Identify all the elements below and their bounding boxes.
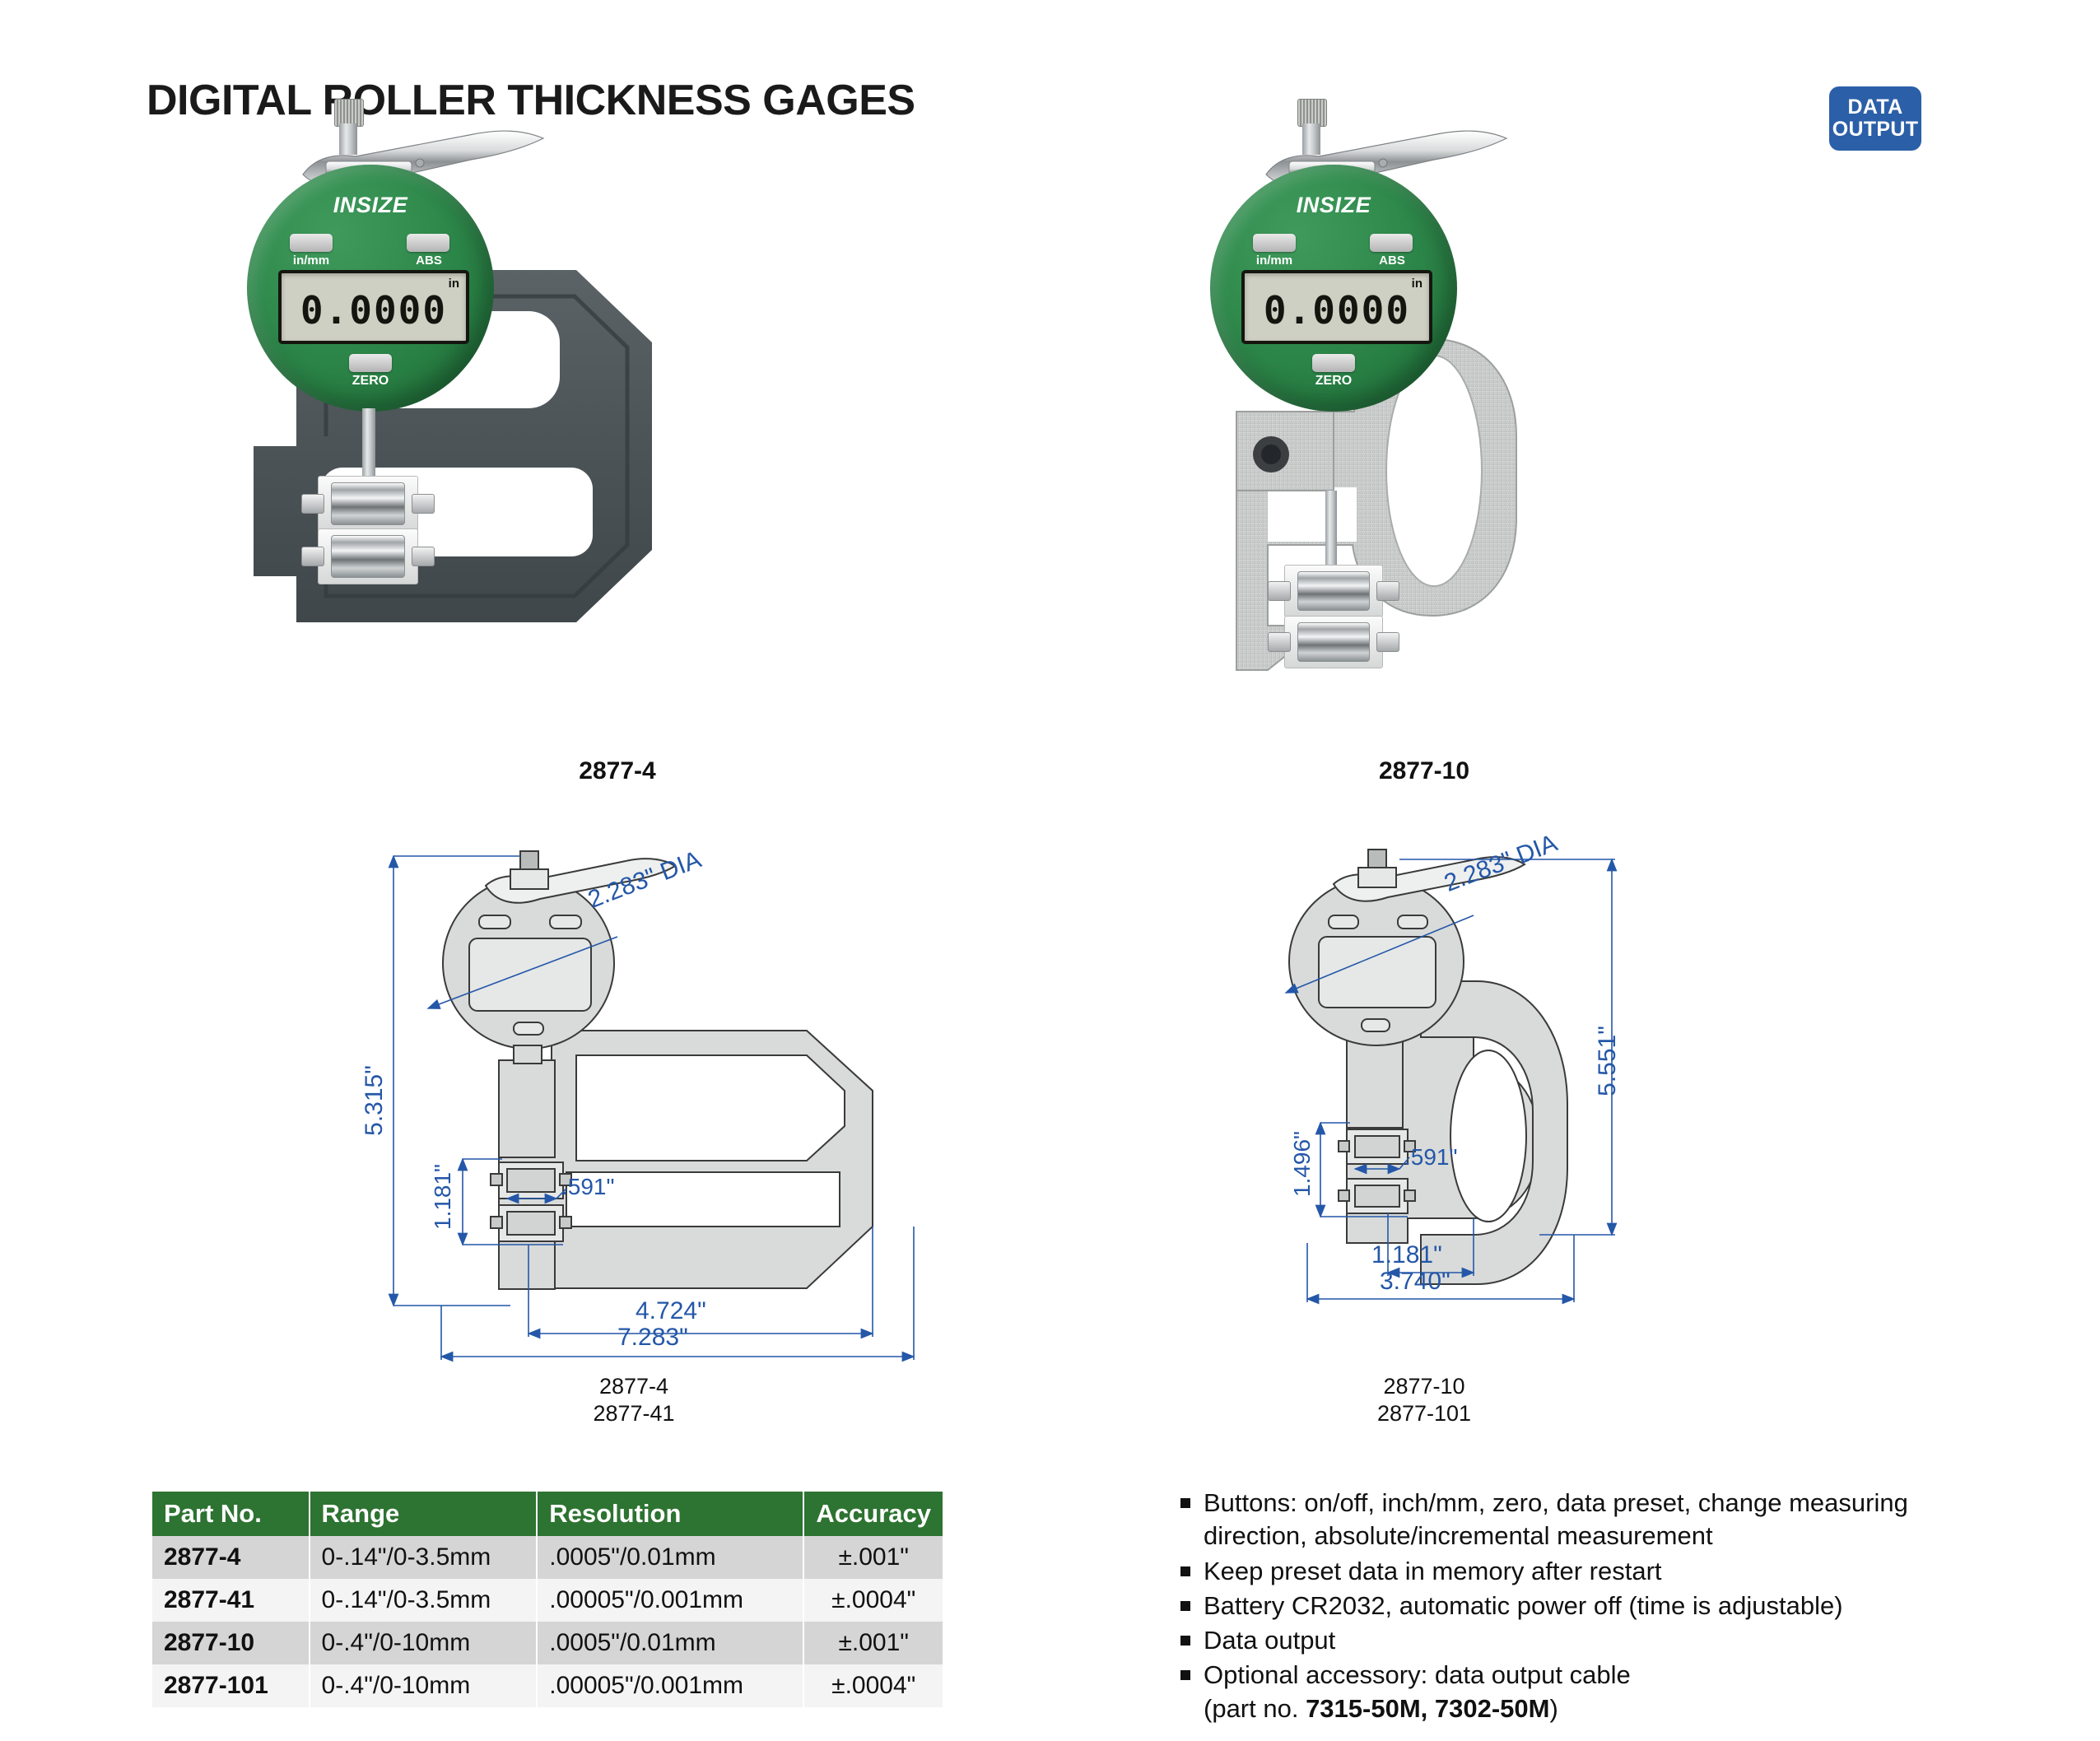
cell-accuracy: ±.001" — [803, 1622, 943, 1664]
roller-lower — [331, 535, 405, 578]
bolt-lower-right — [1376, 632, 1399, 652]
bolt-upper-left — [301, 494, 324, 514]
dim-overall-right: 3.740" — [1380, 1268, 1450, 1296]
zero-button-label: ZERO — [1304, 374, 1363, 389]
roller-upper — [331, 482, 405, 525]
dim-roller-gap-left: 1.181" — [430, 1164, 456, 1230]
feature-partno-prefix: (part no. — [1204, 1694, 1306, 1723]
dim-roller-width-right: .591" — [1404, 1144, 1457, 1171]
abs-button-label: ABS — [1363, 254, 1421, 268]
lcd-unit: in — [1412, 277, 1423, 291]
feature-text: Buttons: on/off, inch/mm, zero, data pre… — [1204, 1488, 1908, 1550]
spindle-cap — [1297, 99, 1327, 127]
abs-button-label: ABS — [400, 254, 458, 268]
product-photo-2877-10: INSIZE in/mm ABS 0.0000 in ZERO — [1218, 165, 1795, 733]
drawing-caption-left: 2877-4 2877-41 — [510, 1373, 757, 1427]
dim-throat-right: 1.181" — [1371, 1241, 1442, 1269]
data-output-badge: DATA OUTPUT — [1829, 86, 1921, 151]
dim-throat-left: 4.724" — [636, 1297, 706, 1325]
dim-roller-gap-right: 1.496" — [1289, 1131, 1315, 1197]
cell-part-no: 2877-41 — [152, 1579, 310, 1622]
header-part-no: Part No. — [152, 1492, 310, 1536]
feature-partno-value: 7315-50M, 7302-50M — [1306, 1694, 1549, 1723]
cell-resolution: .0005"/0.01mm — [537, 1622, 803, 1664]
feature-item: Buttons: on/off, inch/mm, zero, data pre… — [1179, 1487, 2019, 1553]
drawing-caption-left-line2: 2877-41 — [510, 1400, 757, 1427]
cell-accuracy: ±.001" — [803, 1536, 943, 1579]
spindle-top — [339, 123, 357, 155]
roller-assembly-2877-10 — [1261, 565, 1418, 680]
bolt-lower-left — [1268, 632, 1291, 652]
abs-button[interactable] — [1370, 234, 1413, 252]
bolt-upper-right — [412, 494, 435, 514]
technical-drawing-2877-10: 2.283" DIA 5.551" 1.496" .591" 1.181" 3.… — [1268, 840, 1646, 1366]
bolt-lower-right — [412, 547, 435, 566]
dim-overall-left: 7.283" — [617, 1324, 688, 1352]
roller-lower — [1297, 622, 1370, 662]
table-header-row: Part No. Range Resolution Accuracy — [152, 1492, 943, 1536]
cell-range: 0-.4"/0-10mm — [310, 1622, 538, 1664]
cell-range: 0-.14"/0-3.5mm — [310, 1536, 538, 1579]
badge-line-2: OUTPUT — [1832, 119, 1919, 141]
feature-partno-suffix: ) — [1549, 1694, 1558, 1723]
drawing-caption-left-line1: 2877-4 — [510, 1373, 757, 1400]
specification-table: Part No. Range Resolution Accuracy 2877-… — [152, 1492, 943, 1707]
feature-item: Data output — [1179, 1624, 2019, 1657]
feature-text: Optional accessory: data output cable — [1204, 1660, 1631, 1689]
lcd-value: 0.0000 — [282, 288, 466, 333]
feature-text: Battery CR2032, automatic power off (tim… — [1204, 1591, 1843, 1620]
inmm-button-label: in/mm — [1245, 254, 1304, 268]
lcd-value: 0.0000 — [1245, 288, 1429, 333]
lcd-display: 0.0000 in — [278, 270, 469, 344]
brand-label: INSIZE — [1210, 193, 1457, 218]
zero-button[interactable] — [349, 354, 392, 372]
table-row: 2877-10 0-.4"/0-10mm .0005"/0.01mm ±.001… — [152, 1622, 943, 1664]
feature-item: Battery CR2032, automatic power off (tim… — [1179, 1590, 2019, 1622]
cell-range: 0-.14"/0-3.5mm — [310, 1579, 538, 1622]
dial-face: INSIZE in/mm ABS 0.0000 in ZERO — [247, 165, 494, 412]
feature-item: Optional accessory: data output cable (p… — [1179, 1659, 2019, 1725]
badge-line-1: DATA — [1848, 96, 1903, 119]
inmm-button-label: in/mm — [282, 254, 341, 268]
dim-roller-width-left: .591" — [561, 1174, 614, 1200]
inmm-button[interactable] — [1253, 234, 1296, 252]
bolt-upper-right — [1376, 581, 1399, 601]
cell-resolution: .00005"/0.001mm — [537, 1579, 803, 1622]
table-row: 2877-4 0-.14"/0-3.5mm .0005"/0.01mm ±.00… — [152, 1536, 943, 1579]
feature-list: Buttons: on/off, inch/mm, zero, data pre… — [1179, 1487, 2019, 1727]
bolt-lower-left — [301, 547, 324, 566]
header-accuracy: Accuracy — [803, 1492, 943, 1536]
feature-item: Keep preset data in memory after restart — [1179, 1555, 2019, 1588]
cell-part-no: 2877-4 — [152, 1536, 310, 1579]
indicator-head-2877-4: INSIZE in/mm ABS 0.0000 in ZERO — [247, 165, 510, 428]
technical-drawing-2877-4: 2.283" DIA 5.315" 1.181" .591" 4.724" 7.… — [346, 840, 955, 1366]
zero-button[interactable] — [1312, 354, 1355, 372]
spindle-cap — [334, 99, 364, 127]
brand-label: INSIZE — [247, 193, 494, 218]
header-resolution: Resolution — [537, 1492, 803, 1536]
roller-upper — [1297, 571, 1370, 611]
cell-part-no: 2877-10 — [152, 1622, 310, 1664]
cell-part-no: 2877-101 — [152, 1664, 310, 1707]
spindle-top — [1302, 123, 1320, 155]
lcd-unit: in — [449, 277, 459, 291]
dim-height-right: 5.551" — [1594, 1026, 1622, 1096]
abs-button[interactable] — [407, 234, 449, 252]
feature-text: Keep preset data in memory after restart — [1204, 1557, 1662, 1585]
table-row: 2877-41 0-.14"/0-3.5mm .00005"/0.001mm ±… — [152, 1579, 943, 1622]
cell-accuracy: ±.0004" — [803, 1579, 943, 1622]
header-range: Range — [310, 1492, 538, 1536]
dial-face: INSIZE in/mm ABS 0.0000 in ZERO — [1210, 165, 1457, 412]
drawing-caption-right-line1: 2877-10 — [1301, 1373, 1548, 1400]
photo-caption-2877-10: 2877-10 — [1301, 757, 1548, 785]
lcd-display: 0.0000 in — [1241, 270, 1432, 344]
dim-height-left: 5.315" — [361, 1065, 389, 1136]
inmm-button[interactable] — [290, 234, 333, 252]
drawing-caption-right: 2877-10 2877-101 — [1301, 1373, 1548, 1427]
cell-resolution: .00005"/0.001mm — [537, 1664, 803, 1707]
photo-caption-2877-4: 2877-4 — [494, 757, 741, 785]
cell-resolution: .0005"/0.01mm — [537, 1536, 803, 1579]
cell-range: 0-.4"/0-10mm — [310, 1664, 538, 1707]
cell-accuracy: ±.0004" — [803, 1664, 943, 1707]
drawing-caption-right-line2: 2877-101 — [1301, 1400, 1548, 1427]
indicator-head-2877-10: INSIZE in/mm ABS 0.0000 in ZERO — [1210, 165, 1474, 428]
product-photo-2877-4: INSIZE in/mm ABS 0.0000 in ZERO — [247, 165, 988, 733]
roller-assembly-2877-4 — [295, 476, 451, 591]
table-row: 2877-101 0-.4"/0-10mm .00005"/0.001mm ±.… — [152, 1664, 943, 1707]
zero-button-label: ZERO — [341, 374, 400, 389]
feature-text: Data output — [1204, 1626, 1335, 1655]
bolt-upper-left — [1268, 581, 1291, 601]
